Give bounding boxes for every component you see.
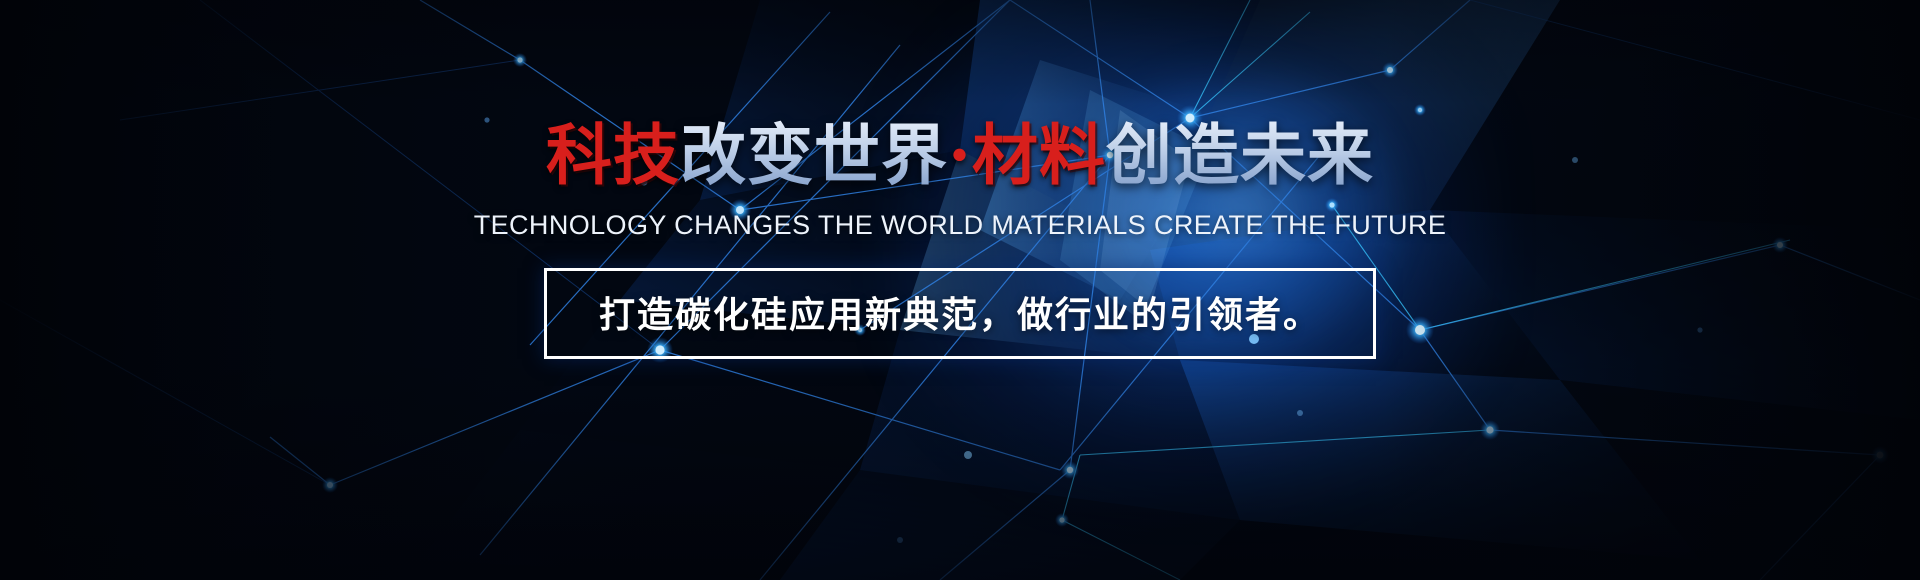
banner-content: 科技改变世界·材料创造未来 TECHNOLOGY CHANGES THE WOR… (0, 0, 1920, 580)
banner-headline: 科技改变世界·材料创造未来 (546, 122, 1374, 188)
headline-separator-dot: · (948, 116, 972, 194)
banner-tagline: 打造碳化硅应用新典范，做行业的引领者。 (599, 286, 1321, 338)
banner-subline: TECHNOLOGY CHANGES THE WORLD MATERIALS C… (474, 210, 1447, 241)
tagline-box: 打造碳化硅应用新典范，做行业的引领者。 (544, 268, 1376, 359)
headline-segment-2: 改变世界 (680, 116, 948, 194)
headline-segment-3: 材料 (972, 116, 1106, 194)
hero-banner: 科技改变世界·材料创造未来 TECHNOLOGY CHANGES THE WOR… (0, 0, 1920, 580)
headline-segment-1: 科技 (546, 116, 680, 194)
headline-segment-4: 创造未来 (1106, 116, 1374, 194)
